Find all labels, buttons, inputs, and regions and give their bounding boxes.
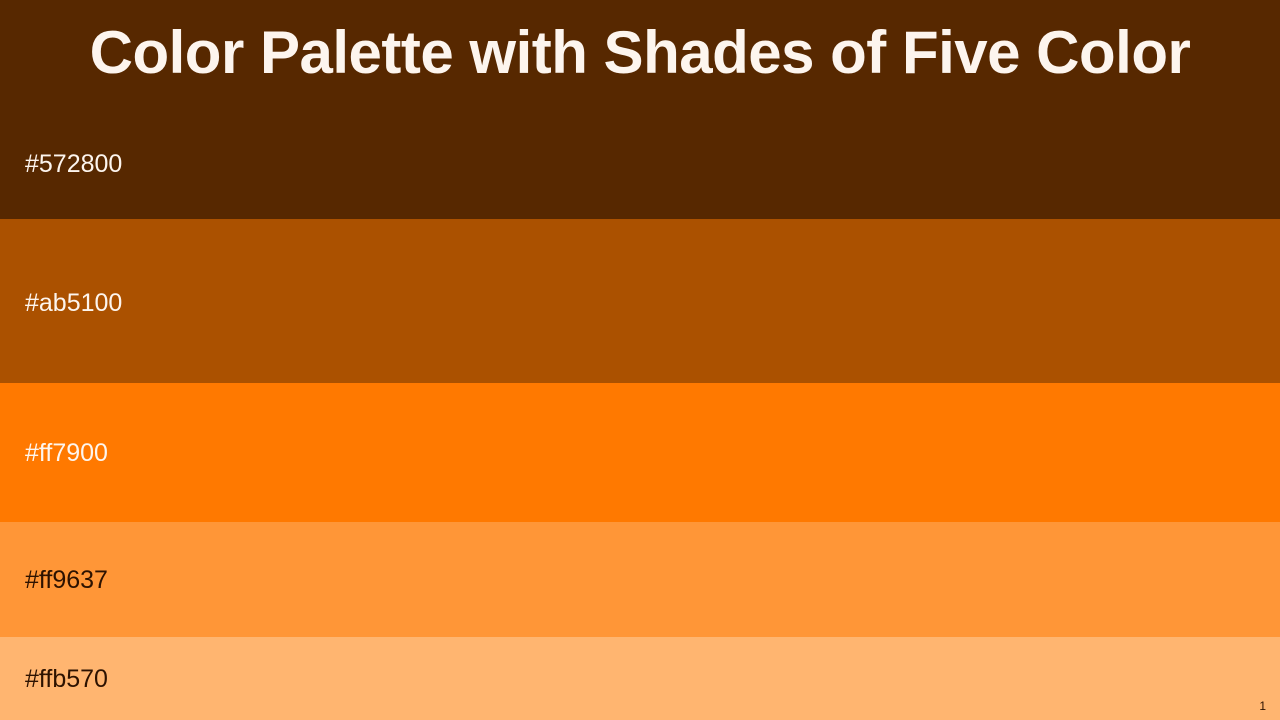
color-band (0, 637, 1280, 720)
color-palette-slide: Color Palette with Shades of Five Color … (0, 0, 1280, 720)
color-swatch-label: #ffb570 (25, 667, 108, 692)
color-swatch-label: #ff9637 (25, 568, 108, 593)
page-number: 1 (1259, 700, 1266, 712)
color-band (0, 383, 1280, 522)
color-band (0, 219, 1280, 383)
color-swatch-label: #ab5100 (25, 291, 122, 316)
color-swatch-label: #572800 (25, 152, 122, 177)
page-title: Color Palette with Shades of Five Color (0, 18, 1280, 87)
title-banner: Color Palette with Shades of Five Color (0, 0, 1280, 219)
color-swatch-label: #ff7900 (25, 441, 108, 466)
color-band (0, 522, 1280, 637)
